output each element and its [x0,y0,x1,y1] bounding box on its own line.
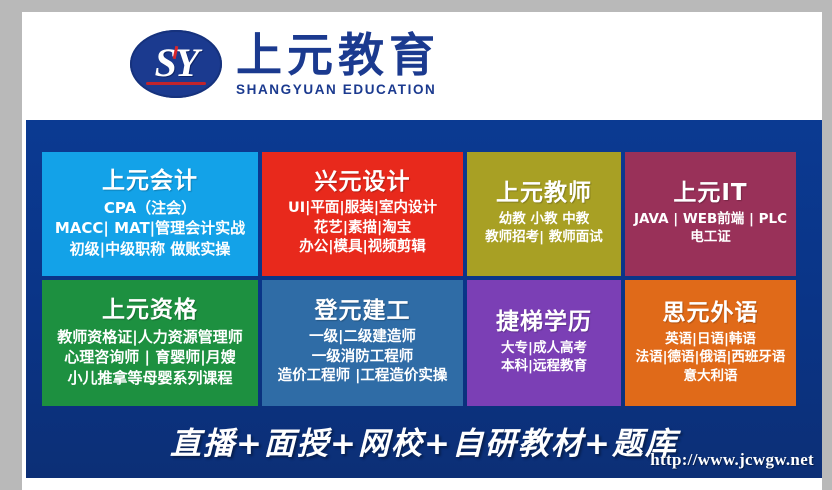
brand-logo: SY 上元教育 SHANGYUAN EDUCATION [130,30,440,98]
poster-root: SY 上元教育 SHANGYUAN EDUCATION 上元会计 CPA（注会）… [0,0,832,490]
course-tile-line: 本科|远程教育 [501,357,587,375]
course-tile-line: 花艺|素描|淘宝 [314,219,412,239]
course-tile-shangyuan-qualification[interactable]: 上元资格 教师资格证|人力资源管理师 心理咨询师 | 育婴师|月嫂 小儿推拿等母… [42,280,258,406]
poster-header: SY 上元教育 SHANGYUAN EDUCATION [22,12,822,120]
course-tile-title: 上元IT [673,181,747,207]
course-tile-title: 捷梯学历 [496,310,592,336]
course-tile-line: 英语|日语|韩语 [665,330,756,348]
course-tile-line: 教师资格证|人力资源管理师 [57,327,242,347]
course-tile-title: 登元建工 [315,299,411,325]
course-tile-siyuan-foreign-language[interactable]: 思元外语 英语|日语|韩语 法语|德语|俄语|西班牙语 意大利语 [625,280,796,406]
course-tile-grid: 上元会计 CPA（注会） MACC| MAT|管理会计实战 初级|中级职称 做账… [42,152,808,406]
course-tile-title: 上元教师 [496,181,592,207]
course-tile-xingyuan-design[interactable]: 兴元设计 UI|平面|服装|室内设计 花艺|素描|淘宝 办公|模具|视频剪辑 [262,152,463,276]
course-tile-line: 心理咨询师 | 育婴师|月嫂 [64,347,235,367]
course-tile-line: 初级|中级职称 做账实操 [70,239,231,259]
courses-panel: 上元会计 CPA（注会） MACC| MAT|管理会计实战 初级|中级职称 做账… [26,120,822,478]
course-tile-line: 小儿推拿等母婴系列课程 [67,368,232,388]
course-tile-shangyuan-it[interactable]: 上元IT JAVA | WEB前端 | PLC 电工证 [625,152,796,276]
course-tile-line: 法语|德语|俄语|西班牙语 [636,348,786,366]
course-tile-line: JAVA | WEB前端 | PLC [634,210,787,228]
course-tile-line: 幼教 小教 中教 [499,210,589,228]
course-tile-line: 一级消防工程师 [312,348,414,368]
course-tile-line: 造价工程师 |工程造价实操 [278,367,448,387]
course-tile-dengyuan-construction[interactable]: 登元建工 一级|二级建造师 一级消防工程师 造价工程师 |工程造价实操 [262,280,463,406]
course-tile-shangyuan-accounting[interactable]: 上元会计 CPA（注会） MACC| MAT|管理会计实战 初级|中级职称 做账… [42,152,258,276]
course-tile-title: 上元资格 [102,298,198,324]
course-tile-jieti-education[interactable]: 捷梯学历 大专|成人高考 本科|远程教育 [467,280,621,406]
course-tile-line: UI|平面|服装|室内设计 [288,199,437,219]
brand-name-cn: 上元教育 [236,32,440,78]
course-tile-line: 一级|二级建造师 [309,328,416,348]
course-tile-line: MACC| MAT|管理会计实战 [55,218,245,238]
course-tile-shangyuan-teacher[interactable]: 上元教师 幼教 小教 中教 教师招考| 教师面试 [467,152,621,276]
course-tile-line: 电工证 [690,228,731,246]
course-tile-line: 办公|模具|视频剪辑 [299,238,426,258]
course-tile-line: 大专|成人高考 [501,339,587,357]
sy-monogram-text: SY [130,30,222,98]
brand-name-en: SHANGYUAN EDUCATION [236,83,440,97]
course-tile-title: 思元外语 [663,301,759,327]
course-tile-line: 意大利语 [684,367,738,385]
course-tile-line: 教师招考| 教师面试 [485,228,603,246]
course-tile-title: 上元会计 [102,169,198,195]
logo-underline [146,82,206,85]
course-tile-line: CPA（注会） [104,198,196,218]
brand-name-block: 上元教育 SHANGYUAN EDUCATION [236,32,440,97]
course-tile-title: 兴元设计 [315,170,411,196]
sy-monogram-icon: SY [130,30,222,98]
website-url[interactable]: http://www.jcwgw.net [650,450,814,470]
